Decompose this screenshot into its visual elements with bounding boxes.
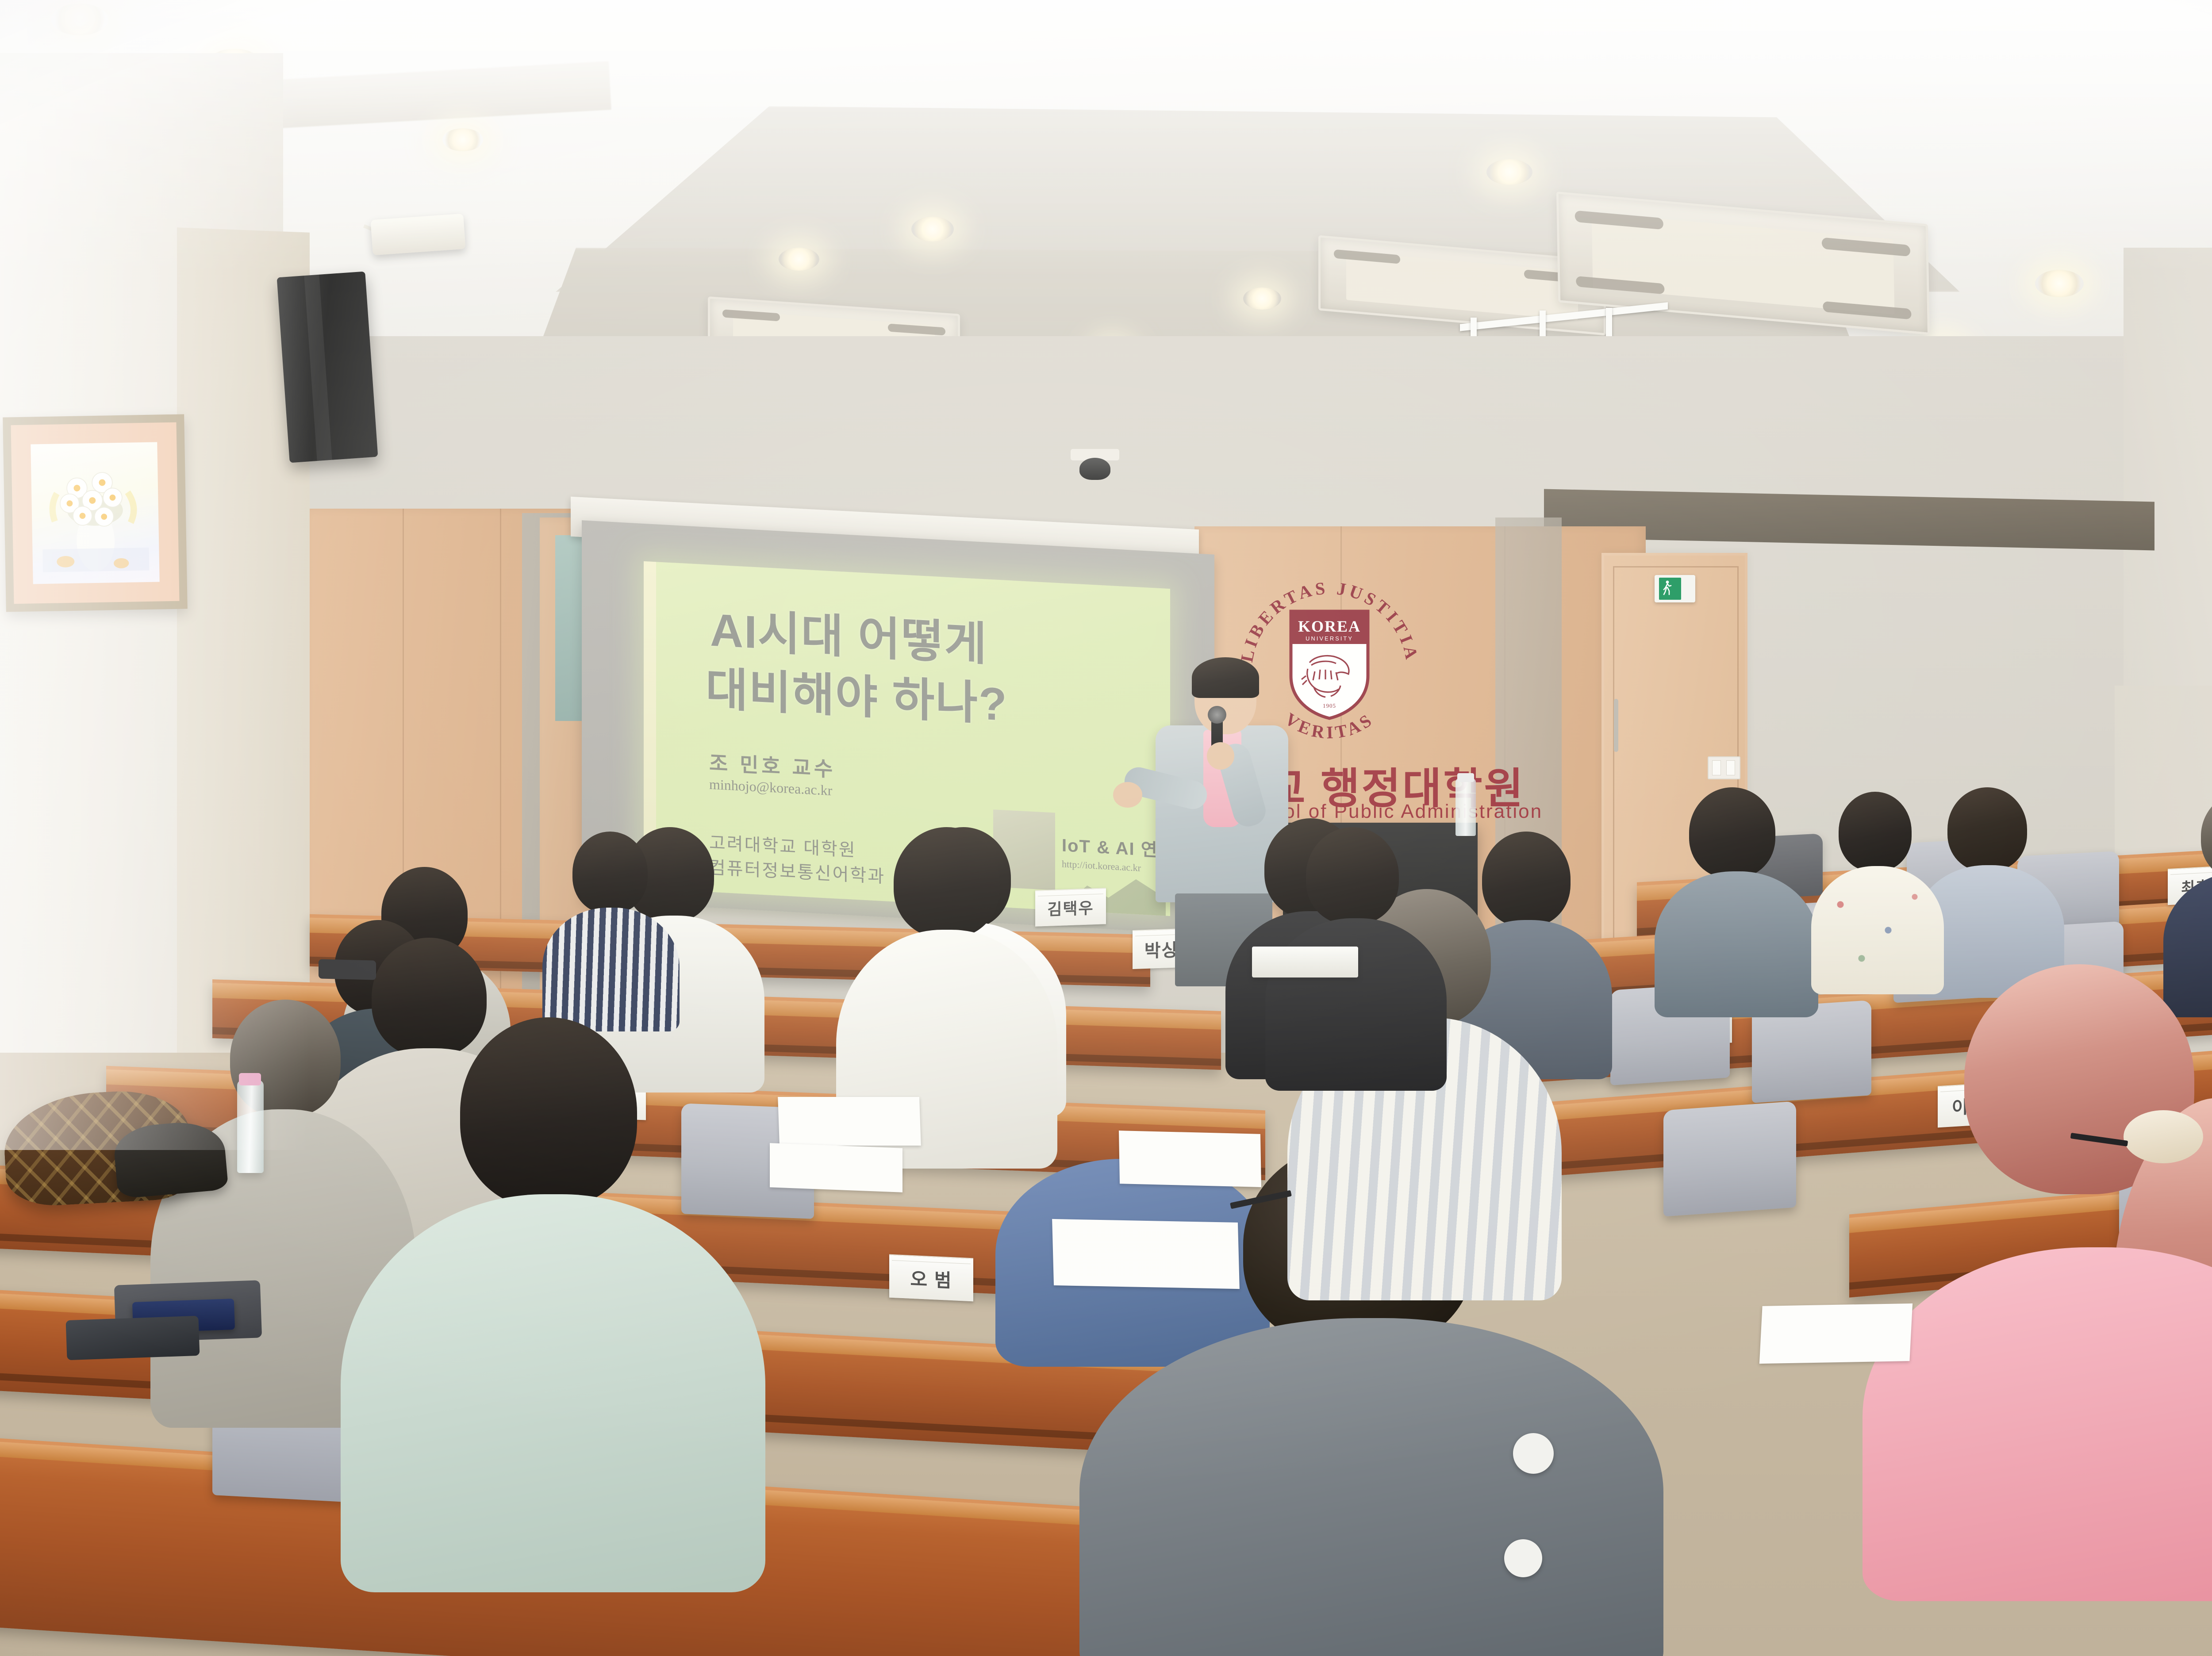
desk-item-wallet <box>66 1316 200 1360</box>
hair-scrunchie <box>2124 1110 2203 1163</box>
paper-handout <box>1119 1131 1261 1187</box>
svg-text:KOREA: KOREA <box>1298 617 1361 635</box>
svg-text:UNIVERSITY: UNIVERSITY <box>1306 635 1353 642</box>
desk-item-case <box>319 959 376 980</box>
ring-binder <box>1252 947 1358 977</box>
ceiling-downlight <box>1243 287 1281 310</box>
paper-handout <box>770 1143 902 1192</box>
ceiling-downlight <box>1486 159 1532 185</box>
water-bottle-podium <box>1455 778 1476 836</box>
attendee <box>1809 792 1942 982</box>
presenter-left-hand <box>1113 782 1142 808</box>
lecture-hall-photo: AI시대 어떻게 대비해야 하나? 조 민호 교수 minhojo@korea.… <box>0 0 2212 1656</box>
light-switch-plate[interactable] <box>1708 756 1740 779</box>
attendee <box>1876 964 2212 1583</box>
framed-artwork-left <box>3 414 188 612</box>
ceiling-downlight <box>51 4 108 35</box>
paper-handout <box>778 1097 921 1146</box>
attendee <box>1663 787 1809 995</box>
svg-text:1905: 1905 <box>1323 702 1336 709</box>
coat-button <box>1513 1433 1554 1474</box>
ceiling-downlight <box>911 217 954 241</box>
ceiling-downlight <box>442 128 483 151</box>
name-placard: 오 범 <box>889 1254 973 1302</box>
chair[interactable] <box>1663 1101 1796 1217</box>
microphone-head <box>1208 706 1226 724</box>
exit-sign <box>1655 575 1695 602</box>
attendee <box>376 1017 721 1548</box>
coat-button <box>1504 1539 1542 1577</box>
presenter-right-hand <box>1207 742 1234 770</box>
placard-name: 김택우 <box>1047 895 1094 920</box>
ceiling-downlight <box>779 248 819 271</box>
door-handle[interactable] <box>1614 699 1618 752</box>
ceiling-dome-camera <box>1079 458 1110 480</box>
wall-speaker-left <box>277 272 378 463</box>
artwork-canvas-daisies <box>31 442 159 584</box>
placard-name: 오 범 <box>910 1264 952 1292</box>
ceiling-downlight <box>2035 270 2084 297</box>
slide-lab-url: http://iot.korea.ac.kr <box>1062 858 1141 874</box>
paper-handout <box>1052 1219 1240 1289</box>
water-bottle-front-cap <box>239 1073 261 1085</box>
water-bottle-front <box>237 1080 264 1173</box>
exit-running-man-icon <box>1663 580 1672 596</box>
attendee <box>544 832 677 1017</box>
water-bottle-cap <box>1457 773 1474 782</box>
wall-emergency-light <box>370 214 465 255</box>
presenter-hair <box>1192 657 1259 698</box>
paper-handout <box>1759 1303 1912 1364</box>
